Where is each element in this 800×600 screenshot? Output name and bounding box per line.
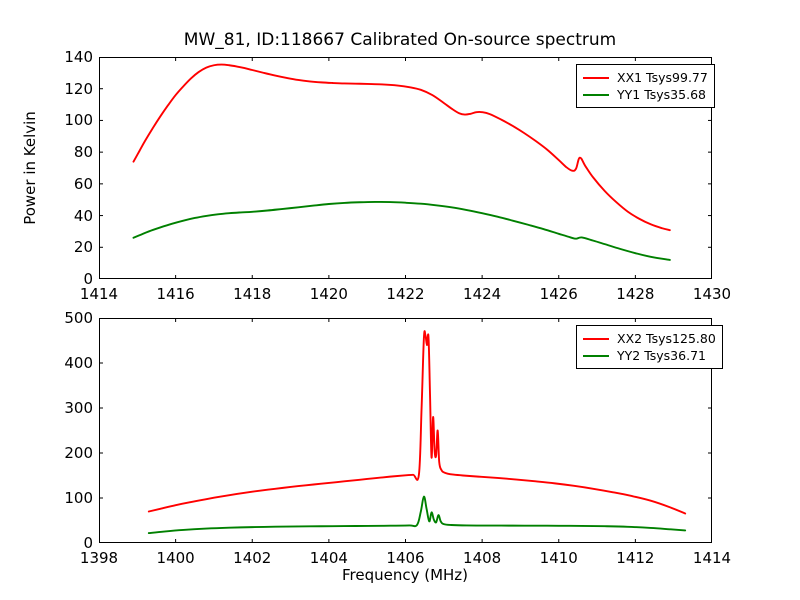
top-legend-item: YY1 Tsys35.68 — [583, 86, 708, 103]
bottom-x-tick: 1404 — [310, 549, 348, 567]
top-y-tick: 60 — [41, 175, 93, 193]
top-x-tick: 1430 — [693, 285, 731, 303]
top-x-tick: 1418 — [233, 285, 271, 303]
bottom-x-tick: 1412 — [616, 549, 654, 567]
bottom-x-tick: 1402 — [233, 549, 271, 567]
bottom-y-tick: 300 — [41, 399, 93, 417]
top-panel-legend: XX1 Tsys99.77YY1 Tsys35.68 — [576, 64, 715, 108]
bottom-x-tick: 1398 — [80, 549, 118, 567]
bottom-legend-label: YY2 Tsys36.71 — [617, 348, 706, 363]
bottom-x-tick: 1408 — [463, 549, 501, 567]
figure-title: MW_81, ID:118667 Calibrated On-source sp… — [0, 30, 800, 50]
top-y-tick: 100 — [41, 111, 93, 129]
bottom-x-tick: 1406 — [386, 549, 424, 567]
bottom-y-tick: 400 — [41, 354, 93, 372]
bottom-x-tick: 1410 — [540, 549, 578, 567]
legend-line-swatch-icon — [583, 77, 609, 79]
bottom-legend-item: YY2 Tsys36.71 — [583, 347, 716, 364]
figure-canvas: MW_81, ID:118667 Calibrated On-source sp… — [0, 0, 800, 600]
bottom-panel-legend: XX2 Tsys125.80YY2 Tsys36.71 — [576, 325, 723, 369]
top-x-tick: 1424 — [463, 285, 501, 303]
bottom-x-tick: 1400 — [157, 549, 195, 567]
bottom-y-tick: 100 — [41, 489, 93, 507]
legend-line-swatch-icon — [583, 94, 609, 96]
bottom-legend-item: XX2 Tsys125.80 — [583, 330, 716, 347]
top-legend-label: XX1 Tsys99.77 — [617, 70, 708, 85]
top-legend-label: YY1 Tsys35.68 — [617, 87, 706, 102]
top-x-tick: 1416 — [157, 285, 195, 303]
legend-line-swatch-icon — [583, 338, 609, 340]
top-y-tick: 20 — [41, 238, 93, 256]
bottom-x-tick: 1414 — [693, 549, 731, 567]
x-axis-title: Frequency (MHz) — [342, 566, 468, 584]
top-legend-item: XX1 Tsys99.77 — [583, 69, 708, 86]
top-y-tick: 80 — [41, 143, 93, 161]
top-x-tick: 1426 — [540, 285, 578, 303]
top-x-tick: 1420 — [310, 285, 348, 303]
bottom-y-tick: 500 — [41, 309, 93, 327]
top-y-axis-title: Power in Kelvin — [21, 111, 39, 225]
top-y-tick: 140 — [41, 48, 93, 66]
top-x-tick: 1414 — [80, 285, 118, 303]
top-x-tick: 1428 — [616, 285, 654, 303]
legend-line-swatch-icon — [583, 355, 609, 357]
bottom-y-tick: 200 — [41, 444, 93, 462]
top-x-tick: 1422 — [386, 285, 424, 303]
top-y-tick: 120 — [41, 80, 93, 98]
top-y-tick: 40 — [41, 207, 93, 225]
bottom-legend-label: XX2 Tsys125.80 — [617, 331, 716, 346]
